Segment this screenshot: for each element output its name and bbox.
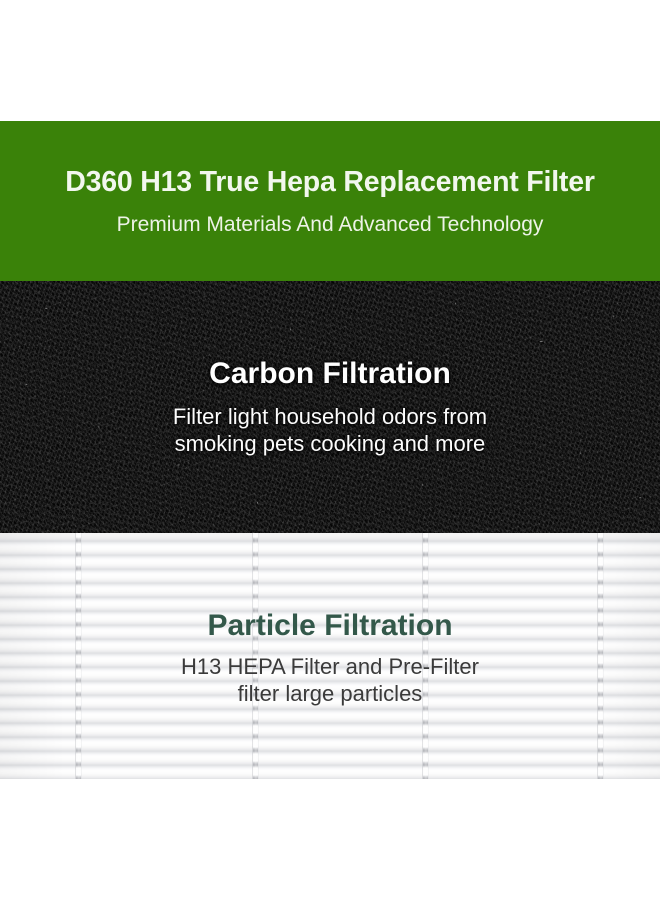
top-white-margin [0, 0, 660, 121]
carbon-text-block: Carbon Filtration Filter light household… [0, 281, 660, 533]
carbon-filtration-heading: Carbon Filtration [209, 357, 451, 391]
carbon-description-line-2: smoking pets cooking and more [173, 430, 487, 457]
product-infographic: D360 H13 True Hepa Replacement Filter Pr… [0, 0, 660, 900]
particle-filtration-heading: Particle Filtration [207, 609, 452, 643]
particle-description-line-1: H13 HEPA Filter and Pre-Filter [181, 654, 479, 681]
carbon-filtration-section: Carbon Filtration Filter light household… [0, 281, 660, 533]
particle-filtration-section: Particle Filtration H13 HEPA Filter and … [0, 533, 660, 779]
particle-filtration-description: H13 HEPA Filter and Pre-Filter filter la… [181, 654, 479, 708]
particle-text-block: Particle Filtration H13 HEPA Filter and … [0, 533, 660, 779]
product-title: D360 H13 True Hepa Replacement Filter [65, 166, 595, 199]
header-banner: D360 H13 True Hepa Replacement Filter Pr… [0, 121, 660, 281]
carbon-filtration-description: Filter light household odors from smokin… [173, 403, 487, 458]
particle-description-line-2: filter large particles [181, 681, 479, 708]
carbon-description-line-1: Filter light household odors from [173, 403, 487, 430]
product-subtitle: Premium Materials And Advanced Technolog… [117, 213, 544, 237]
bottom-white-margin [0, 779, 660, 900]
